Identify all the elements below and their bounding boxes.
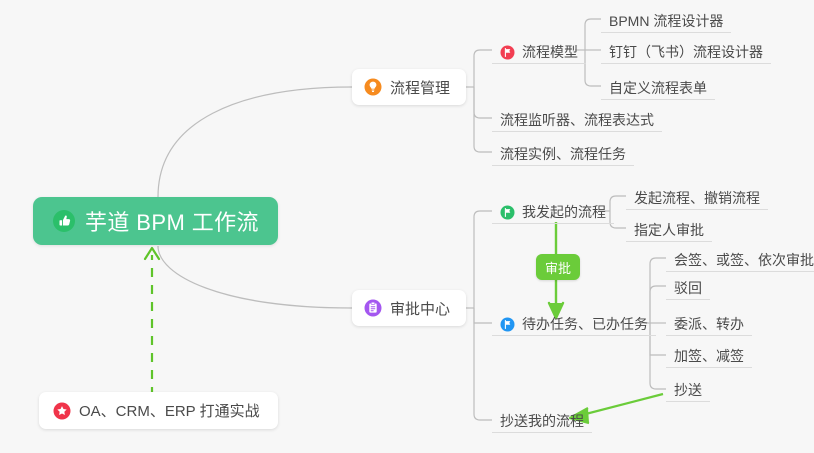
branch-label: 审批中心 [390,298,450,319]
node-label: BPMN 流程设计器 [609,12,723,30]
branch-process-management[interactable]: 流程管理 [352,69,466,105]
edge-model-to-bpmn [585,19,601,50]
star-icon [53,402,71,420]
root-node[interactable]: 芋道 BPM 工作流 [33,197,278,245]
edge-pm-to-listener [474,87,492,118]
approval-tag-label: 审批 [545,258,571,277]
node-label: 抄送 [674,381,702,399]
node-todo-done-tasks[interactable]: 待办任务、已办任务 [492,308,656,336]
node-label: 委派、转办 [674,315,744,333]
node-label: 我发起的流程 [522,203,606,221]
node-label: 发起流程、撤销流程 [634,189,760,207]
node-process-model[interactable]: 流程模型 [492,36,586,64]
branch-label: 流程管理 [390,77,450,98]
node-label: 抄送我的流程 [500,412,584,430]
node-custom-form[interactable]: 自定义流程表单 [601,72,715,100]
annotation-arrow-bottom-note [145,248,159,396]
node-label: 钉钉（飞书）流程设计器 [609,43,763,61]
approval-tag[interactable]: 审批 [536,254,580,280]
node-my-initiated-processes[interactable]: 我发起的流程 [492,196,614,224]
edge-ac-to-cc [474,308,492,420]
node-label: 驳回 [674,279,702,297]
node-assignee-approval[interactable]: 指定人审批 [626,214,712,242]
mindmap-canvas: 芋道 BPM 工作流 流程管理 流程模型 BPMN 流程设计器 钉钉（飞书）流程 [0,0,814,453]
edge-root-to-process-management [158,87,352,197]
edge-pm-to-process-model [474,50,492,87]
node-label: 待办任务、已办任务 [522,315,648,333]
node-process-instance[interactable]: 流程实例、流程任务 [492,138,634,166]
node-label: 会签、或签、依次审批 [674,251,814,269]
node-label: 流程监听器、流程表达式 [500,111,654,129]
edge-root-to-approval-center [158,246,352,308]
node-process-listener[interactable]: 流程监听器、流程表达式 [492,104,662,132]
node-countersign[interactable]: 会签、或签、依次审批 [666,244,814,272]
edge-ac-to-my-initiated [474,211,492,308]
node-bpmn-designer[interactable]: BPMN 流程设计器 [601,5,731,33]
flag-icon [500,205,515,220]
edge-ac-to-todo [474,308,492,323]
bottom-note[interactable]: OA、CRM、ERP 打通实战 [39,392,278,429]
flag-icon [500,45,515,60]
node-label: 指定人审批 [634,221,704,239]
node-reject[interactable]: 驳回 [666,272,710,300]
bottom-note-label: OA、CRM、ERP 打通实战 [79,400,260,421]
node-label: 流程实例、流程任务 [500,145,626,163]
flag-icon [500,317,515,332]
branch-approval-center[interactable]: 审批中心 [352,290,466,326]
clipboard-icon [364,299,382,317]
edge-pm-to-instance [474,87,492,152]
node-delegate-transfer[interactable]: 委派、转办 [666,308,752,336]
node-start-cancel-process[interactable]: 发起流程、撤销流程 [626,182,768,210]
root-label: 芋道 BPM 工作流 [85,205,259,237]
node-carbon-copy[interactable]: 抄送 [666,374,710,402]
edge-model-to-custom-form [585,50,601,86]
node-label: 自定义流程表单 [609,79,707,97]
lightbulb-icon [364,78,382,96]
node-dingtalk-designer[interactable]: 钉钉（飞书）流程设计器 [601,36,771,64]
thumbs-up-icon [52,209,76,233]
node-label: 流程模型 [522,43,578,61]
node-add-remove-sign[interactable]: 加签、减签 [666,340,752,368]
node-cc-to-me-processes[interactable]: 抄送我的流程 [492,405,592,433]
node-label: 加签、减签 [674,347,744,365]
